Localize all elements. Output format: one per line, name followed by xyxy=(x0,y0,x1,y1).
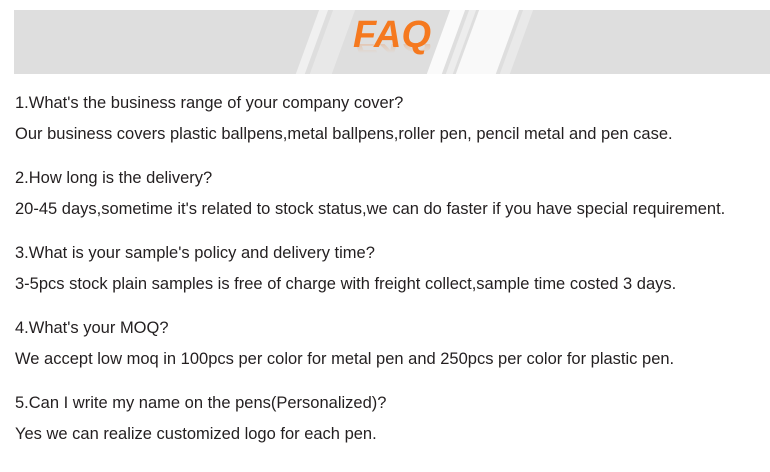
faq-list: 1.What's the business range of your comp… xyxy=(15,88,760,463)
faq-question: 3.What is your sample's policy and deliv… xyxy=(15,238,760,269)
faq-item: 3.What is your sample's policy and deliv… xyxy=(15,238,760,300)
faq-answer: 20-45 days,sometime it's related to stoc… xyxy=(15,194,760,225)
faq-question: 2.How long is the delivery? xyxy=(15,163,760,194)
faq-answer: Yes we can realize customized logo for e… xyxy=(15,419,760,450)
faq-answer: 3-5pcs stock plain samples is free of ch… xyxy=(15,269,760,300)
faq-item: 1.What's the business range of your comp… xyxy=(15,88,760,150)
faq-item: 4.What's your MOQ? We accept low moq in … xyxy=(15,313,760,375)
faq-item: 5.Can I write my name on the pens(Person… xyxy=(15,388,760,450)
page-title-reflection: FAQ xyxy=(14,44,770,55)
faq-page: FAQ FAQ 1.What's the business range of y… xyxy=(0,0,770,472)
faq-item: 2.How long is the delivery? 20-45 days,s… xyxy=(15,163,760,225)
faq-question: 4.What's your MOQ? xyxy=(15,313,760,344)
faq-answer: Our business covers plastic ballpens,met… xyxy=(15,119,760,150)
faq-answer: We accept low moq in 100pcs per color fo… xyxy=(15,344,760,375)
faq-banner: FAQ FAQ xyxy=(14,10,770,74)
faq-title-group: FAQ FAQ xyxy=(14,16,770,74)
faq-question: 1.What's the business range of your comp… xyxy=(15,88,760,119)
faq-question: 5.Can I write my name on the pens(Person… xyxy=(15,388,760,419)
